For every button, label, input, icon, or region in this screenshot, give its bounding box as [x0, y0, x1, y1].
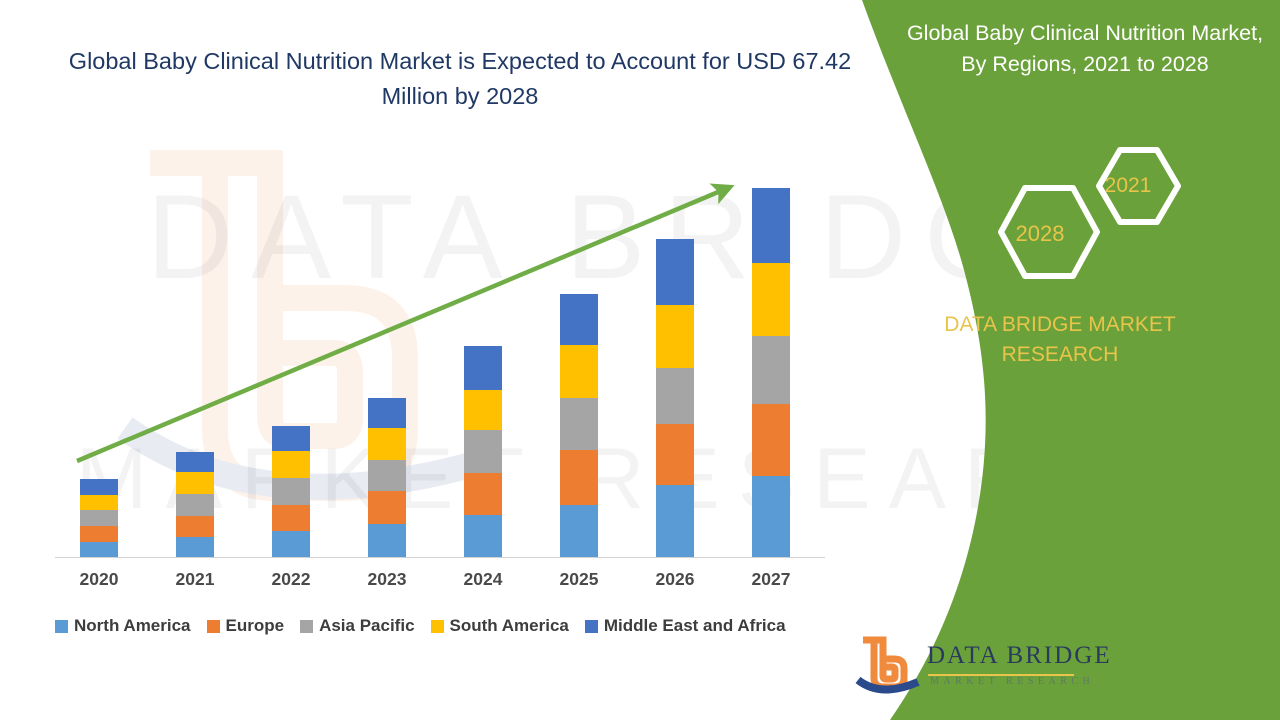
bar-segment-middle-east-and-africa [464, 346, 502, 390]
legend-item-south-america[interactable]: South America [431, 616, 569, 636]
logo-wordmark: DATA BRIDGE [927, 642, 1112, 670]
bar-segment-asia-pacific [560, 398, 598, 450]
legend-item-north-america[interactable]: North America [55, 616, 191, 636]
hexagon-2021-label: 2021 [1068, 174, 1188, 198]
bar-segment-asia-pacific [368, 460, 406, 491]
bar-segment-middle-east-and-africa [368, 398, 406, 428]
bar-segment-middle-east-and-africa [656, 239, 694, 305]
legend-label: South America [450, 616, 569, 636]
bar-segment-europe [80, 526, 118, 542]
x-axis-label-2022: 2022 [248, 569, 334, 590]
data-bridge-logo: DATA BRIDGE MARKET RESEARCH [855, 636, 1085, 702]
stacked-bar-2021 [176, 452, 214, 557]
right-green-panel: Global Baby Clinical Nutrition Market, B… [840, 0, 1280, 720]
bar-segment-north-america [176, 537, 214, 557]
legend-item-middle-east-and-africa[interactable]: Middle East and Africa [585, 616, 786, 636]
hexagon-badges: 2028 2021 [970, 140, 1210, 290]
bar-segment-north-america [560, 505, 598, 557]
bar-segment-europe [176, 516, 214, 537]
x-axis-label-2025: 2025 [536, 569, 622, 590]
brand-name: DATA BRIDGE MARKET RESEARCH [870, 310, 1250, 370]
bar-segment-south-america [80, 495, 118, 510]
chart-legend: North AmericaEuropeAsia PacificSouth Ame… [55, 616, 845, 636]
bar-segment-middle-east-and-africa [176, 452, 214, 472]
bar-segment-europe [656, 424, 694, 485]
legend-swatch-icon [300, 620, 313, 633]
stacked-bar-2024 [464, 346, 502, 557]
bar-segment-middle-east-and-africa [752, 188, 790, 263]
bar-segment-north-america [464, 515, 502, 557]
bar-segment-asia-pacific [176, 494, 214, 516]
bar-segment-middle-east-and-africa [560, 294, 598, 345]
stacked-bar-2020 [80, 479, 118, 557]
stacked-bar-2026 [656, 239, 694, 557]
x-axis-label-2027: 2027 [728, 569, 814, 590]
bar-segment-europe [464, 473, 502, 515]
bar-segment-south-america [656, 305, 694, 368]
x-axis-label-2020: 2020 [56, 569, 142, 590]
bar-segment-asia-pacific [80, 510, 118, 526]
x-axis-label-2026: 2026 [632, 569, 718, 590]
bar-segment-europe [560, 450, 598, 505]
logo-subtitle: MARKET RESEARCH [930, 676, 1094, 687]
bar-segment-south-america [464, 390, 502, 430]
bar-segment-north-america [272, 531, 310, 557]
brand-line-1: DATA BRIDGE MARKET [870, 310, 1250, 340]
logo-b-icon [855, 636, 921, 698]
legend-swatch-icon [55, 620, 68, 633]
bar-segment-europe [368, 491, 406, 524]
legend-item-asia-pacific[interactable]: Asia Pacific [300, 616, 414, 636]
legend-label: North America [74, 616, 191, 636]
infographic-root: DATA BRIDGE MARKET RESEARCH Global Baby … [0, 0, 1280, 720]
legend-label: Europe [226, 616, 285, 636]
stacked-bar-2025 [560, 294, 598, 557]
hexagon-2028-label: 2028 [970, 221, 1110, 247]
bar-segment-south-america [176, 472, 214, 494]
x-axis-label-2023: 2023 [344, 569, 430, 590]
bar-segment-north-america [656, 485, 694, 557]
x-axis-labels: 20202021202220232024202520262027 [0, 569, 860, 595]
legend-swatch-icon [431, 620, 444, 633]
bar-segment-south-america [560, 345, 598, 398]
bar-segment-asia-pacific [656, 368, 694, 424]
hexagon-outlines [970, 140, 1210, 290]
panel-title: Global Baby Clinical Nutrition Market, B… [900, 18, 1270, 79]
x-axis-label-2021: 2021 [152, 569, 238, 590]
legend-swatch-icon [585, 620, 598, 633]
bar-segment-asia-pacific [752, 336, 790, 404]
legend-item-europe[interactable]: Europe [207, 616, 285, 636]
stacked-bar-2027 [752, 188, 790, 557]
bar-segment-europe [752, 404, 790, 476]
bar-segment-north-america [80, 542, 118, 557]
legend-label: Middle East and Africa [604, 616, 786, 636]
stacked-bar-2023 [368, 398, 406, 557]
bar-segment-south-america [272, 451, 310, 478]
bar-segment-asia-pacific [464, 430, 502, 473]
bar-segment-middle-east-and-africa [80, 479, 118, 495]
bar-segment-north-america [368, 524, 406, 557]
bar-segment-middle-east-and-africa [272, 426, 310, 451]
x-axis-label-2024: 2024 [440, 569, 526, 590]
bar-segment-asia-pacific [272, 478, 310, 505]
stacked-bar-2022 [272, 426, 310, 557]
legend-label: Asia Pacific [319, 616, 414, 636]
green-panel-content: Global Baby Clinical Nutrition Market, B… [840, 0, 1280, 720]
bar-segment-north-america [752, 476, 790, 557]
bar-segment-south-america [368, 428, 406, 460]
chart-title: Global Baby Clinical Nutrition Market is… [60, 44, 860, 114]
bar-segment-south-america [752, 263, 790, 336]
bar-segment-europe [272, 505, 310, 531]
legend-swatch-icon [207, 620, 220, 633]
x-axis-line [55, 557, 825, 558]
brand-line-2: RESEARCH [870, 340, 1250, 370]
